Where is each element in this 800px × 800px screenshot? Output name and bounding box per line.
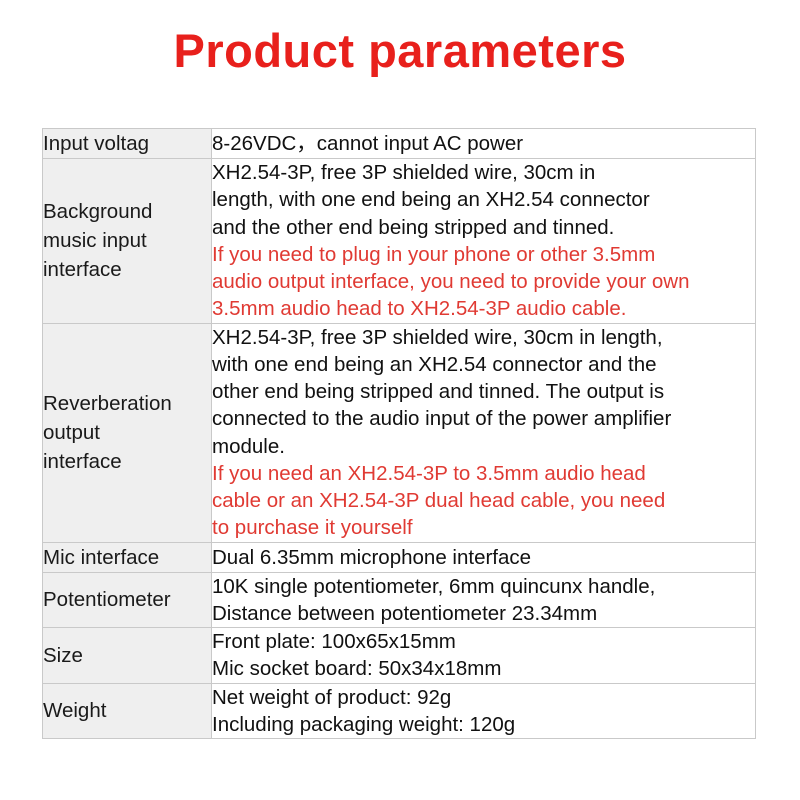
param-value-cell: Net weight of product: 92g Including pac… [212, 683, 756, 739]
table-row: Mic interface Dual 6.35mm microphone int… [43, 542, 756, 572]
param-value-cell: XH2.54-3P, free 3P shielded wire, 30cm i… [212, 323, 756, 542]
param-label-cell: Size [43, 628, 212, 684]
param-value-note: If you need an XH2.54-3P to 3.5mm audio … [212, 460, 755, 542]
table-row: Reverberation output interface XH2.54-3P… [43, 323, 756, 542]
param-value-text: XH2.54-3P, free 3P shielded wire, 30cm i… [212, 159, 755, 241]
param-value-text: Dual 6.35mm microphone interface [212, 544, 755, 571]
param-value-text: 10K single potentiometer, 6mm quincunx h… [212, 573, 755, 628]
spec-table-container: Input voltag 8-26VDC，cannot input AC pow… [42, 128, 756, 739]
param-value-text: Net weight of product: 92g Including pac… [212, 684, 755, 739]
param-value-text: XH2.54-3P, free 3P shielded wire, 30cm i… [212, 324, 755, 460]
param-label-cell: Weight [43, 683, 212, 739]
param-value-cell: 8-26VDC，cannot input AC power [212, 129, 756, 159]
table-body: Input voltag 8-26VDC，cannot input AC pow… [43, 129, 756, 739]
param-value-cell: Front plate: 100x65x15mm Mic socket boar… [212, 628, 756, 684]
product-parameters-page: Product parameters Input voltag 8-26VDC，… [0, 0, 800, 800]
table-row: Weight Net weight of product: 92g Includ… [43, 683, 756, 739]
param-label-cell: Input voltag [43, 129, 212, 159]
table-row: Potentiometer 10K single potentiometer, … [43, 572, 756, 628]
product-parameters-table: Input voltag 8-26VDC，cannot input AC pow… [42, 128, 756, 739]
param-value-note: If you need to plug in your phone or oth… [212, 241, 755, 323]
page-title: Product parameters [0, 0, 800, 74]
param-value-cell: 10K single potentiometer, 6mm quincunx h… [212, 572, 756, 628]
param-label-cell: Potentiometer [43, 572, 212, 628]
table-row: Size Front plate: 100x65x15mm Mic socket… [43, 628, 756, 684]
table-row: Input voltag 8-26VDC，cannot input AC pow… [43, 129, 756, 159]
param-value-cell: Dual 6.35mm microphone interface [212, 542, 756, 572]
param-value-cell: XH2.54-3P, free 3P shielded wire, 30cm i… [212, 159, 756, 324]
param-value-text: Front plate: 100x65x15mm Mic socket boar… [212, 628, 755, 683]
param-label-cell: Background music input interface [43, 159, 212, 324]
param-value-text: 8-26VDC，cannot input AC power [212, 130, 755, 157]
param-label-cell: Mic interface [43, 542, 212, 572]
table-row: Background music input interface XH2.54-… [43, 159, 756, 324]
param-label-cell: Reverberation output interface [43, 323, 212, 542]
